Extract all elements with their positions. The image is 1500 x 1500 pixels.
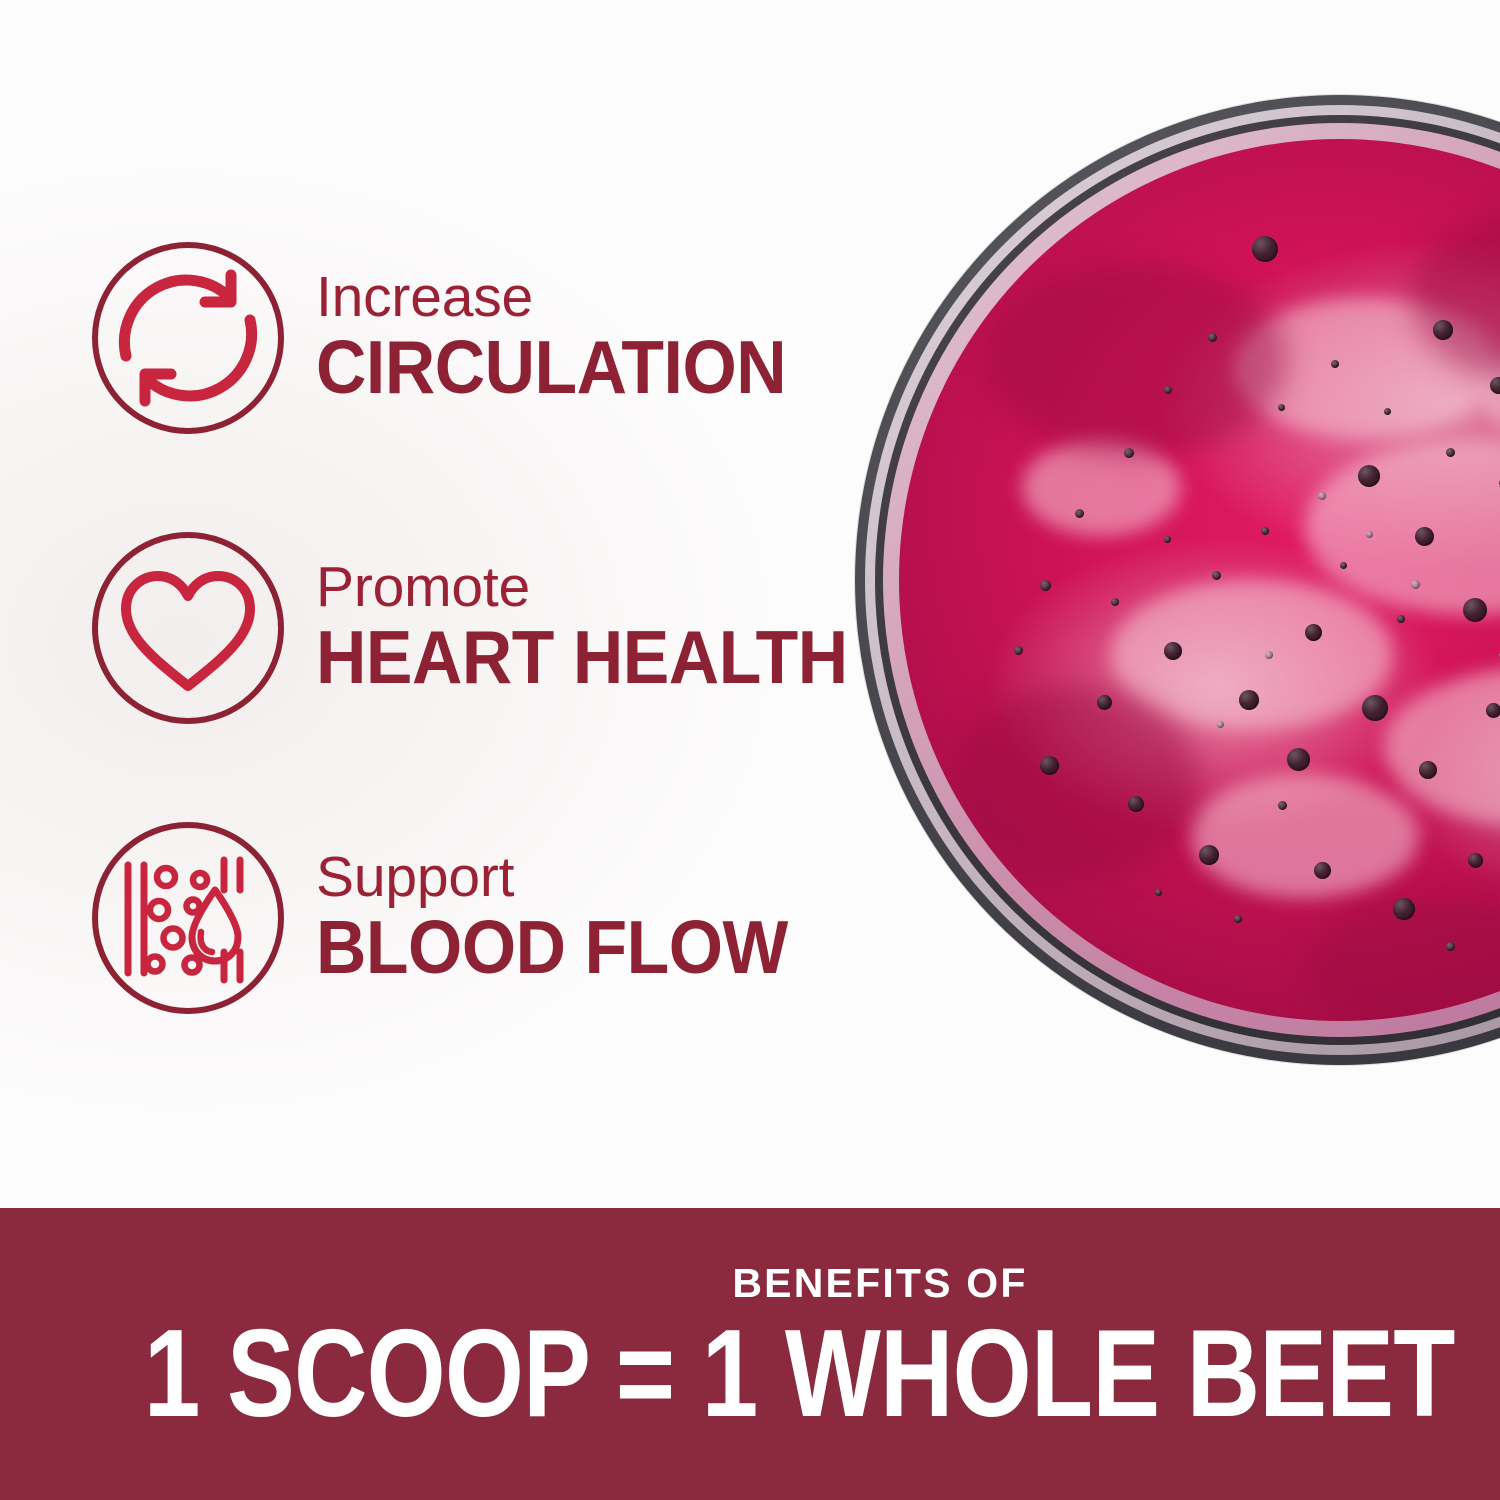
banner-headline-text: 1 SCOOP = 1 WHOLE BEET xyxy=(144,1312,1455,1436)
benefit-label-group: Support BLOOD FLOW xyxy=(316,848,823,988)
benefit-label-group: Promote HEART HEALTH xyxy=(316,558,888,698)
heart-outline-icon xyxy=(88,528,288,728)
infographic-canvas: Increase CIRCULATION Promote HEART HEALT… xyxy=(0,0,1500,1500)
benefit-item-heart-health: Promote HEART HEALTH xyxy=(88,522,828,734)
benefit-top-label: Increase xyxy=(316,268,822,326)
benefit-bottom-label: HEART HEALTH xyxy=(316,618,848,698)
benefit-bottom-label: CIRCULATION xyxy=(316,328,786,408)
banner-eyebrow-text: BENEFITS OF xyxy=(130,1260,1500,1307)
benefit-top-label: Promote xyxy=(316,558,888,616)
benefits-list: Increase CIRCULATION Promote HEART HEALT… xyxy=(88,232,828,1024)
bottom-banner: BENEFITS OF 1 SCOOP = 1 WHOLE BEET xyxy=(0,1208,1500,1500)
benefit-label-group: Increase CIRCULATION xyxy=(316,268,822,408)
circular-arrows-icon xyxy=(88,238,288,438)
blood-flow-droplet-icon xyxy=(88,818,288,1018)
beet-juice-glass-photo xyxy=(855,95,1500,1065)
benefit-bottom-label: BLOOD FLOW xyxy=(316,908,788,988)
benefit-item-blood-flow: Support BLOOD FLOW xyxy=(88,812,828,1024)
benefit-top-label: Support xyxy=(316,848,823,906)
benefit-item-circulation: Increase CIRCULATION xyxy=(88,232,828,444)
banner-headline: 1 SCOOP = 1 WHOLE BEET xyxy=(0,1312,1500,1436)
